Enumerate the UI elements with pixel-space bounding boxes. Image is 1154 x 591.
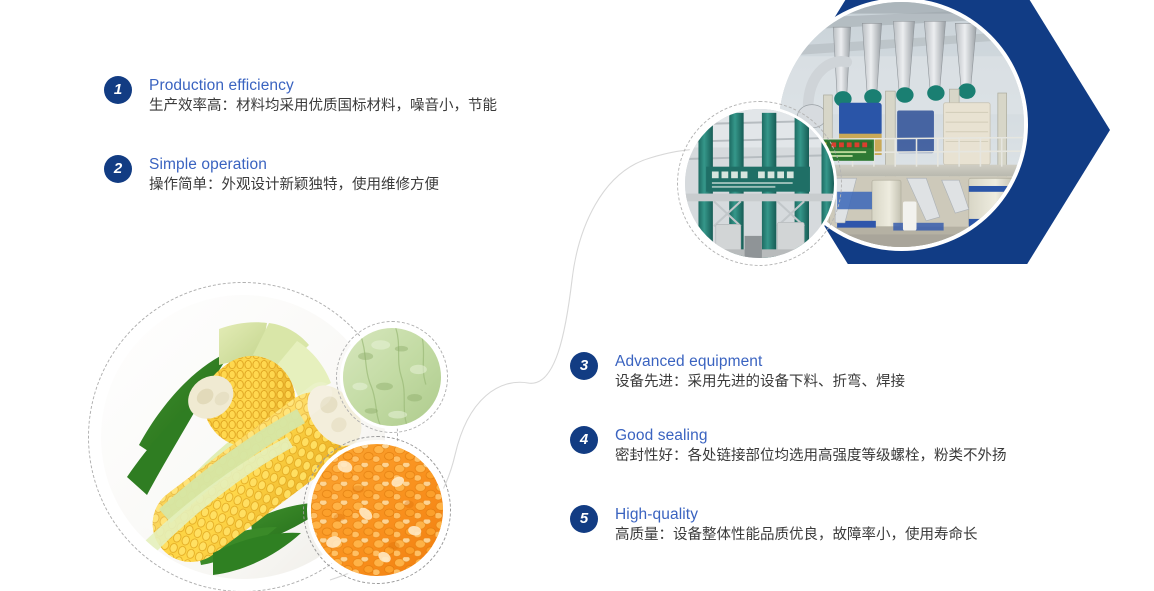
corn-grits-photo: [307, 440, 447, 580]
feature-text-3: Advanced equipment 设备先进：采用先进的设备下料、折弯、焊接: [615, 352, 905, 393]
feature-badge-2: 2: [104, 155, 132, 183]
infographic-canvas: 1 Production efficiency 生产效率高：材料均采用优质国标材…: [0, 0, 1154, 591]
green-mill-equipment-photo: [682, 106, 837, 261]
corn-image-group: [88, 282, 488, 591]
feature-text-4: Good sealing 密封性好：各处链接部位均选用高强度等级螺栓，粉类不外扬: [615, 426, 1007, 467]
feature-item-4[interactable]: 4 Good sealing 密封性好：各处链接部位均选用高强度等级螺栓，粉类不…: [570, 426, 1007, 467]
feature-badge-5: 5: [570, 505, 598, 533]
machinery-image-group: [655, 0, 1154, 296]
feature-title-5: High-quality: [615, 505, 978, 524]
feature-badge-1: 1: [104, 76, 132, 104]
feature-desc-5: 高质量：设备整体性能品质优良，故障率小，使用寿命长: [615, 525, 978, 546]
feature-text-2: Simple operation 操作简单：外观设计新颖独特，使用维修方便: [149, 155, 439, 196]
feature-desc-2: 操作简单：外观设计新颖独特，使用维修方便: [149, 175, 439, 196]
feature-badge-3: 3: [570, 352, 598, 380]
feature-item-5[interactable]: 5 High-quality 高质量：设备整体性能品质优良，故障率小，使用寿命长: [570, 505, 978, 546]
feature-desc-3: 设备先进：采用先进的设备下料、折弯、焊接: [615, 372, 905, 393]
feature-desc-1: 生产效率高：材料均采用优质国标材料，噪音小，节能: [149, 96, 497, 117]
feature-item-2[interactable]: 2 Simple operation 操作简单：外观设计新颖独特，使用维修方便: [104, 155, 439, 196]
corn-flour-photo: [340, 325, 444, 429]
feature-text-1: Production efficiency 生产效率高：材料均采用优质国标材料，…: [149, 76, 497, 117]
feature-desc-4: 密封性好：各处链接部位均选用高强度等级螺栓，粉类不外扬: [615, 446, 1007, 467]
feature-item-3[interactable]: 3 Advanced equipment 设备先进：采用先进的设备下料、折弯、焊…: [570, 352, 905, 393]
feature-title-1: Production efficiency: [149, 76, 497, 95]
feature-title-4: Good sealing: [615, 426, 1007, 445]
feature-title-3: Advanced equipment: [615, 352, 905, 371]
feature-badge-4: 4: [570, 426, 598, 454]
feature-title-2: Simple operation: [149, 155, 439, 174]
feature-text-5: High-quality 高质量：设备整体性能品质优良，故障率小，使用寿命长: [615, 505, 978, 546]
feature-item-1[interactable]: 1 Production efficiency 生产效率高：材料均采用优质国标材…: [104, 76, 497, 117]
